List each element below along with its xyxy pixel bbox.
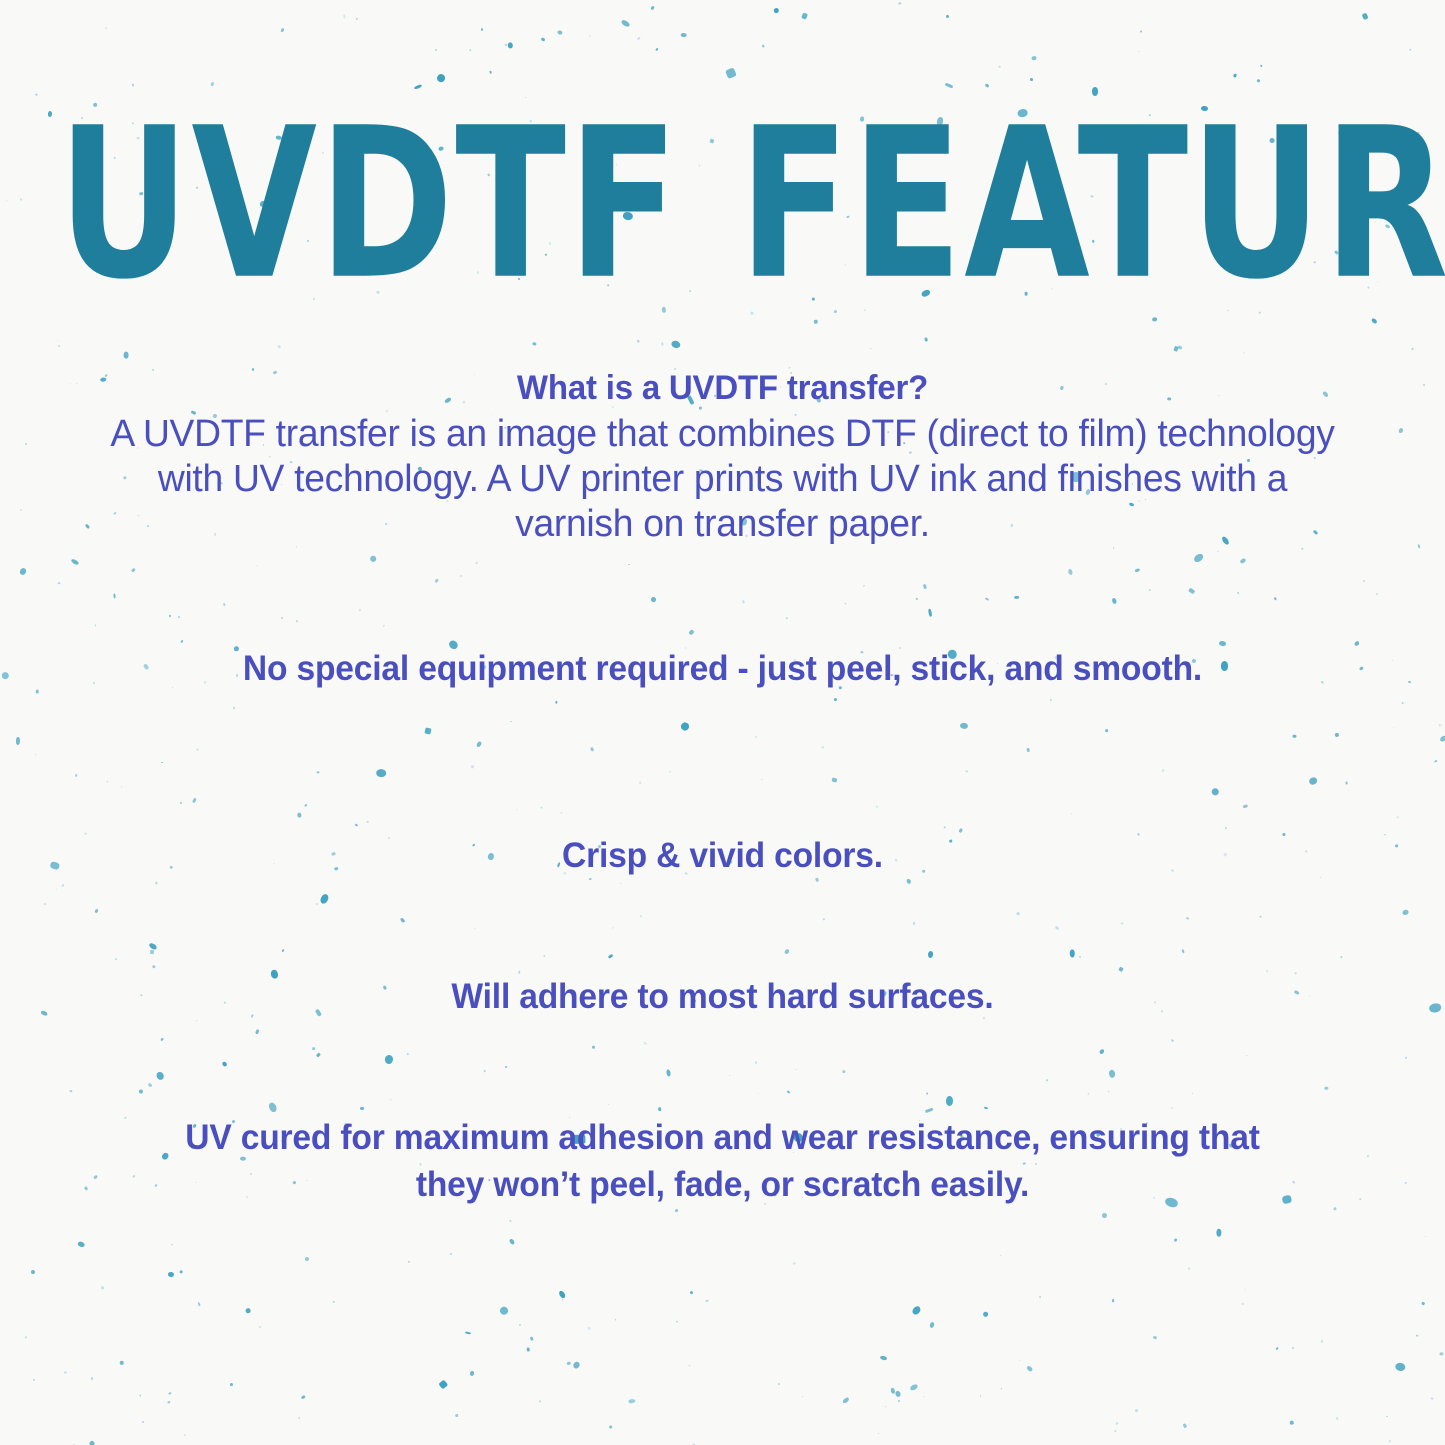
intro-heading: What is a UVDTF transfer?: [22, 366, 1424, 410]
poster-content: UVDTF FEATURES What is a UVDTF transfer?…: [0, 0, 1445, 1445]
feature-item-4: UV cured for maximum adhesion and wear r…: [29, 1114, 1416, 1208]
feature-item-2: Crisp & vivid colors.: [29, 832, 1416, 879]
page-title: UVDTF FEATURES: [58, 104, 1387, 305]
feature-item-1: No special equipment required - just pee…: [29, 645, 1416, 692]
uvdtf-features-poster: UVDTF FEATURES What is a UVDTF transfer?…: [0, 0, 1445, 1445]
intro-body-text: A UVDTF transfer is an image that combin…: [14, 412, 1430, 547]
feature-item-3: Will adhere to most hard surfaces.: [29, 973, 1416, 1020]
